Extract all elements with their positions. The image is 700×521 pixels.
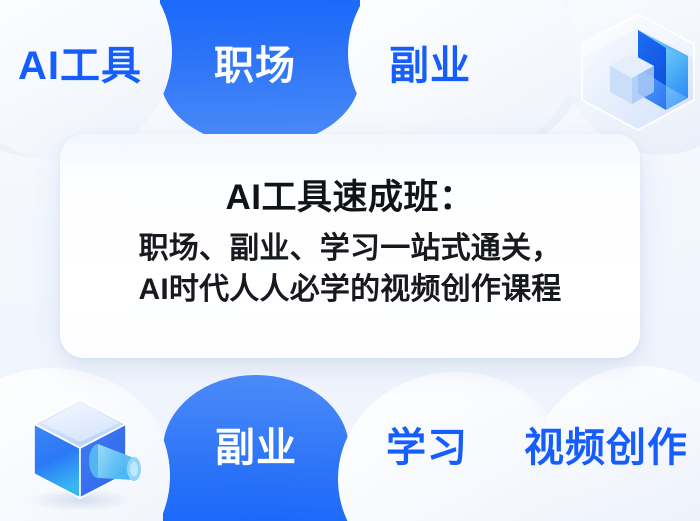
tag-side-hustle-top[interactable]: 副业	[389, 46, 471, 86]
tag-ai-tools[interactable]: AI工具	[18, 46, 142, 86]
tag-study[interactable]: 学习	[386, 428, 468, 468]
card-line-2: AI时代人人必学的视频创作课程	[139, 269, 562, 310]
tag-workplace[interactable]: 职场	[214, 46, 296, 86]
card-line-1: 职场、副业、学习一站式通关，	[139, 228, 562, 269]
tag-side-hustle-bottom[interactable]: 副业	[215, 428, 297, 468]
poster-canvas: AI工具 职场 副业	[0, 0, 700, 521]
hexagon-cube-icon	[570, 8, 700, 141]
tag-video-creation[interactable]: 视频创作	[524, 428, 688, 468]
cube-plug-icon	[14, 388, 150, 521]
card-title: AI工具速成班：	[225, 177, 474, 218]
headline-card: AI工具速成班： 职场、副业、学习一站式通关， AI时代人人必学的视频创作课程	[60, 134, 640, 358]
